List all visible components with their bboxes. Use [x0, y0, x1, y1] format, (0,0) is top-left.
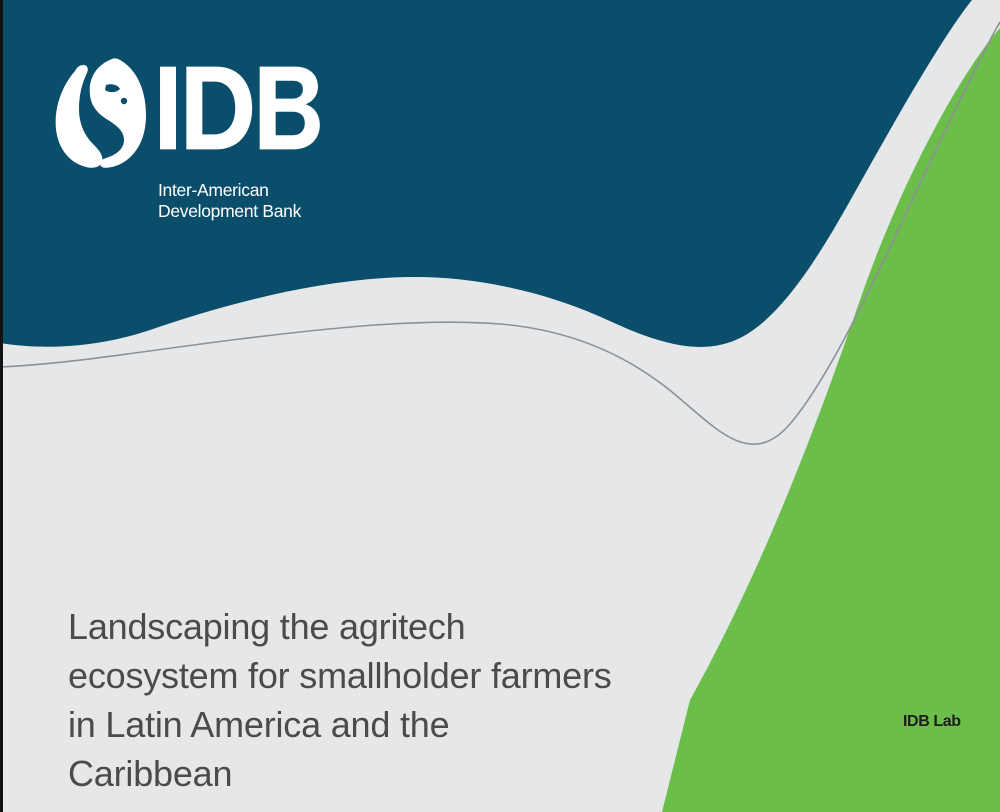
imprint-label: IDB Lab	[903, 712, 961, 731]
idb-wordmark	[158, 61, 320, 155]
page-title: Landscaping the agritech ecosystem for s…	[68, 602, 668, 798]
idb-logo-lockup: Inter-American Development Bank	[46, 55, 336, 221]
report-cover-page: Inter-American Development Bank Landscap…	[0, 0, 1000, 812]
page-left-edge	[0, 0, 3, 812]
idb-wordmark-letters	[158, 61, 320, 155]
idb-tagline: Inter-American Development Bank	[158, 180, 336, 221]
logo-row	[46, 55, 336, 169]
idb-leaf-emblem-icon	[46, 57, 150, 169]
